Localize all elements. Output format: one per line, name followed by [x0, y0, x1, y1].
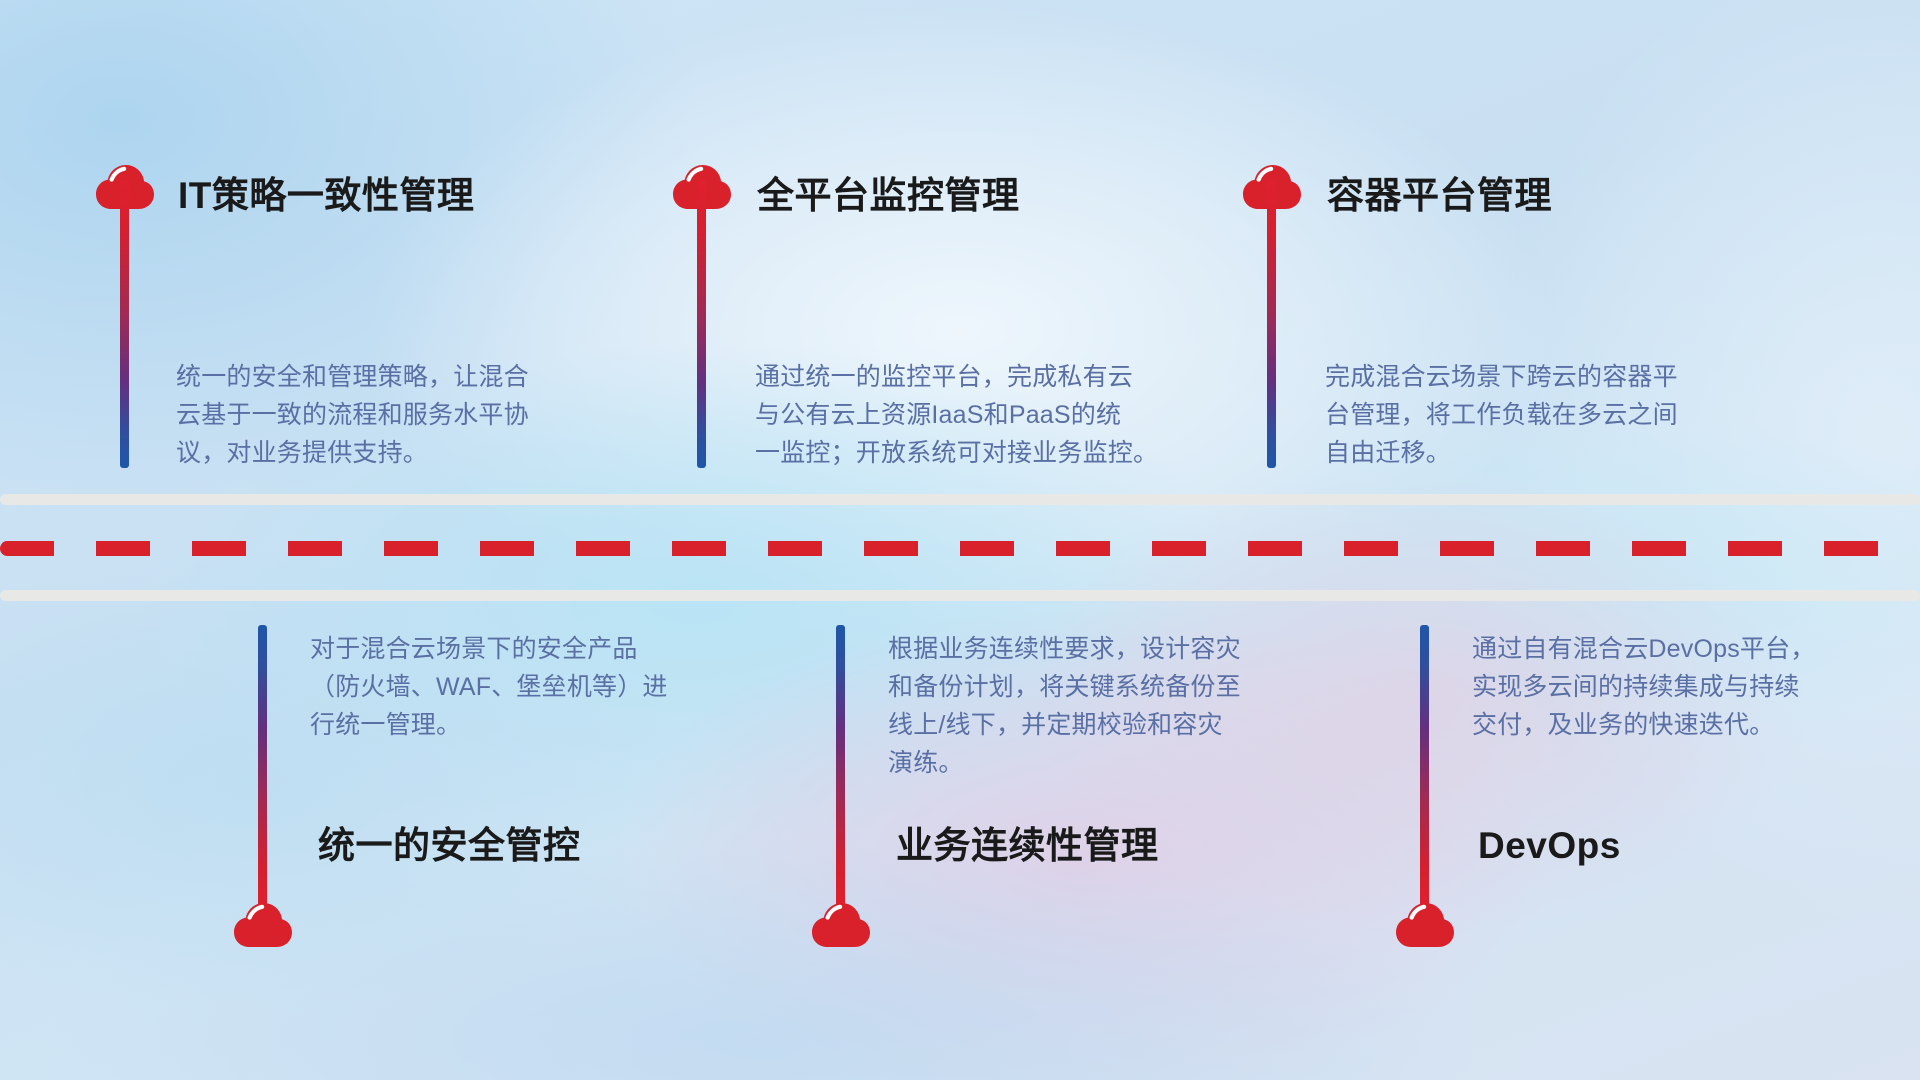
- timeline-stem: [258, 625, 267, 910]
- column-body-text: 根据业务连续性要求，设计容灾 和备份计划，将关键系统备份至 线上/线下，并定期校…: [888, 630, 1318, 782]
- column-heading: DevOps: [1478, 826, 1621, 867]
- cloud-pin-icon: [232, 898, 294, 948]
- road-line-top: [0, 494, 1920, 505]
- cloud-pin-icon: [810, 898, 872, 948]
- timeline-stem: [120, 180, 129, 468]
- timeline-stem: [1267, 180, 1276, 468]
- column-heading: 业务连续性管理: [896, 826, 1159, 867]
- column-heading: 容器平台管理: [1327, 176, 1552, 217]
- column-body-text: 完成混合云场景下跨云的容器平 台管理，将工作负载在多云之间 自由迁移。: [1325, 358, 1755, 472]
- timeline-stem: [697, 180, 706, 468]
- timeline-stem: [836, 625, 845, 910]
- cloud-pin-icon: [1394, 898, 1456, 948]
- infographic-stage: IT策略一致性管理 统一的安全和管理策略，让混合 云基于一致的流程和服务水平协 …: [0, 0, 1920, 1080]
- road-line-bottom: [0, 590, 1920, 601]
- column-body-text: 统一的安全和管理策略，让混合 云基于一致的流程和服务水平协 议，对业务提供支持。: [176, 358, 596, 472]
- timeline-stem: [1420, 625, 1429, 910]
- column-body-text: 通过统一的监控平台，完成私有云 与公有云上资源IaaS和PaaS的统 一监控；开…: [755, 358, 1185, 472]
- column-heading: IT策略一致性管理: [178, 176, 474, 217]
- column-heading: 全平台监控管理: [757, 176, 1020, 217]
- column-body-text: 对于混合云场景下的安全产品 （防火墙、WAF、堡垒机等）进 行统一管理。: [310, 630, 740, 744]
- road-center-dashes: [0, 541, 1920, 556]
- column-heading: 统一的安全管控: [318, 826, 581, 867]
- column-body-text: 通过自有混合云DevOps平台， 实现多云间的持续集成与持续 交付，及业务的快速…: [1472, 630, 1902, 744]
